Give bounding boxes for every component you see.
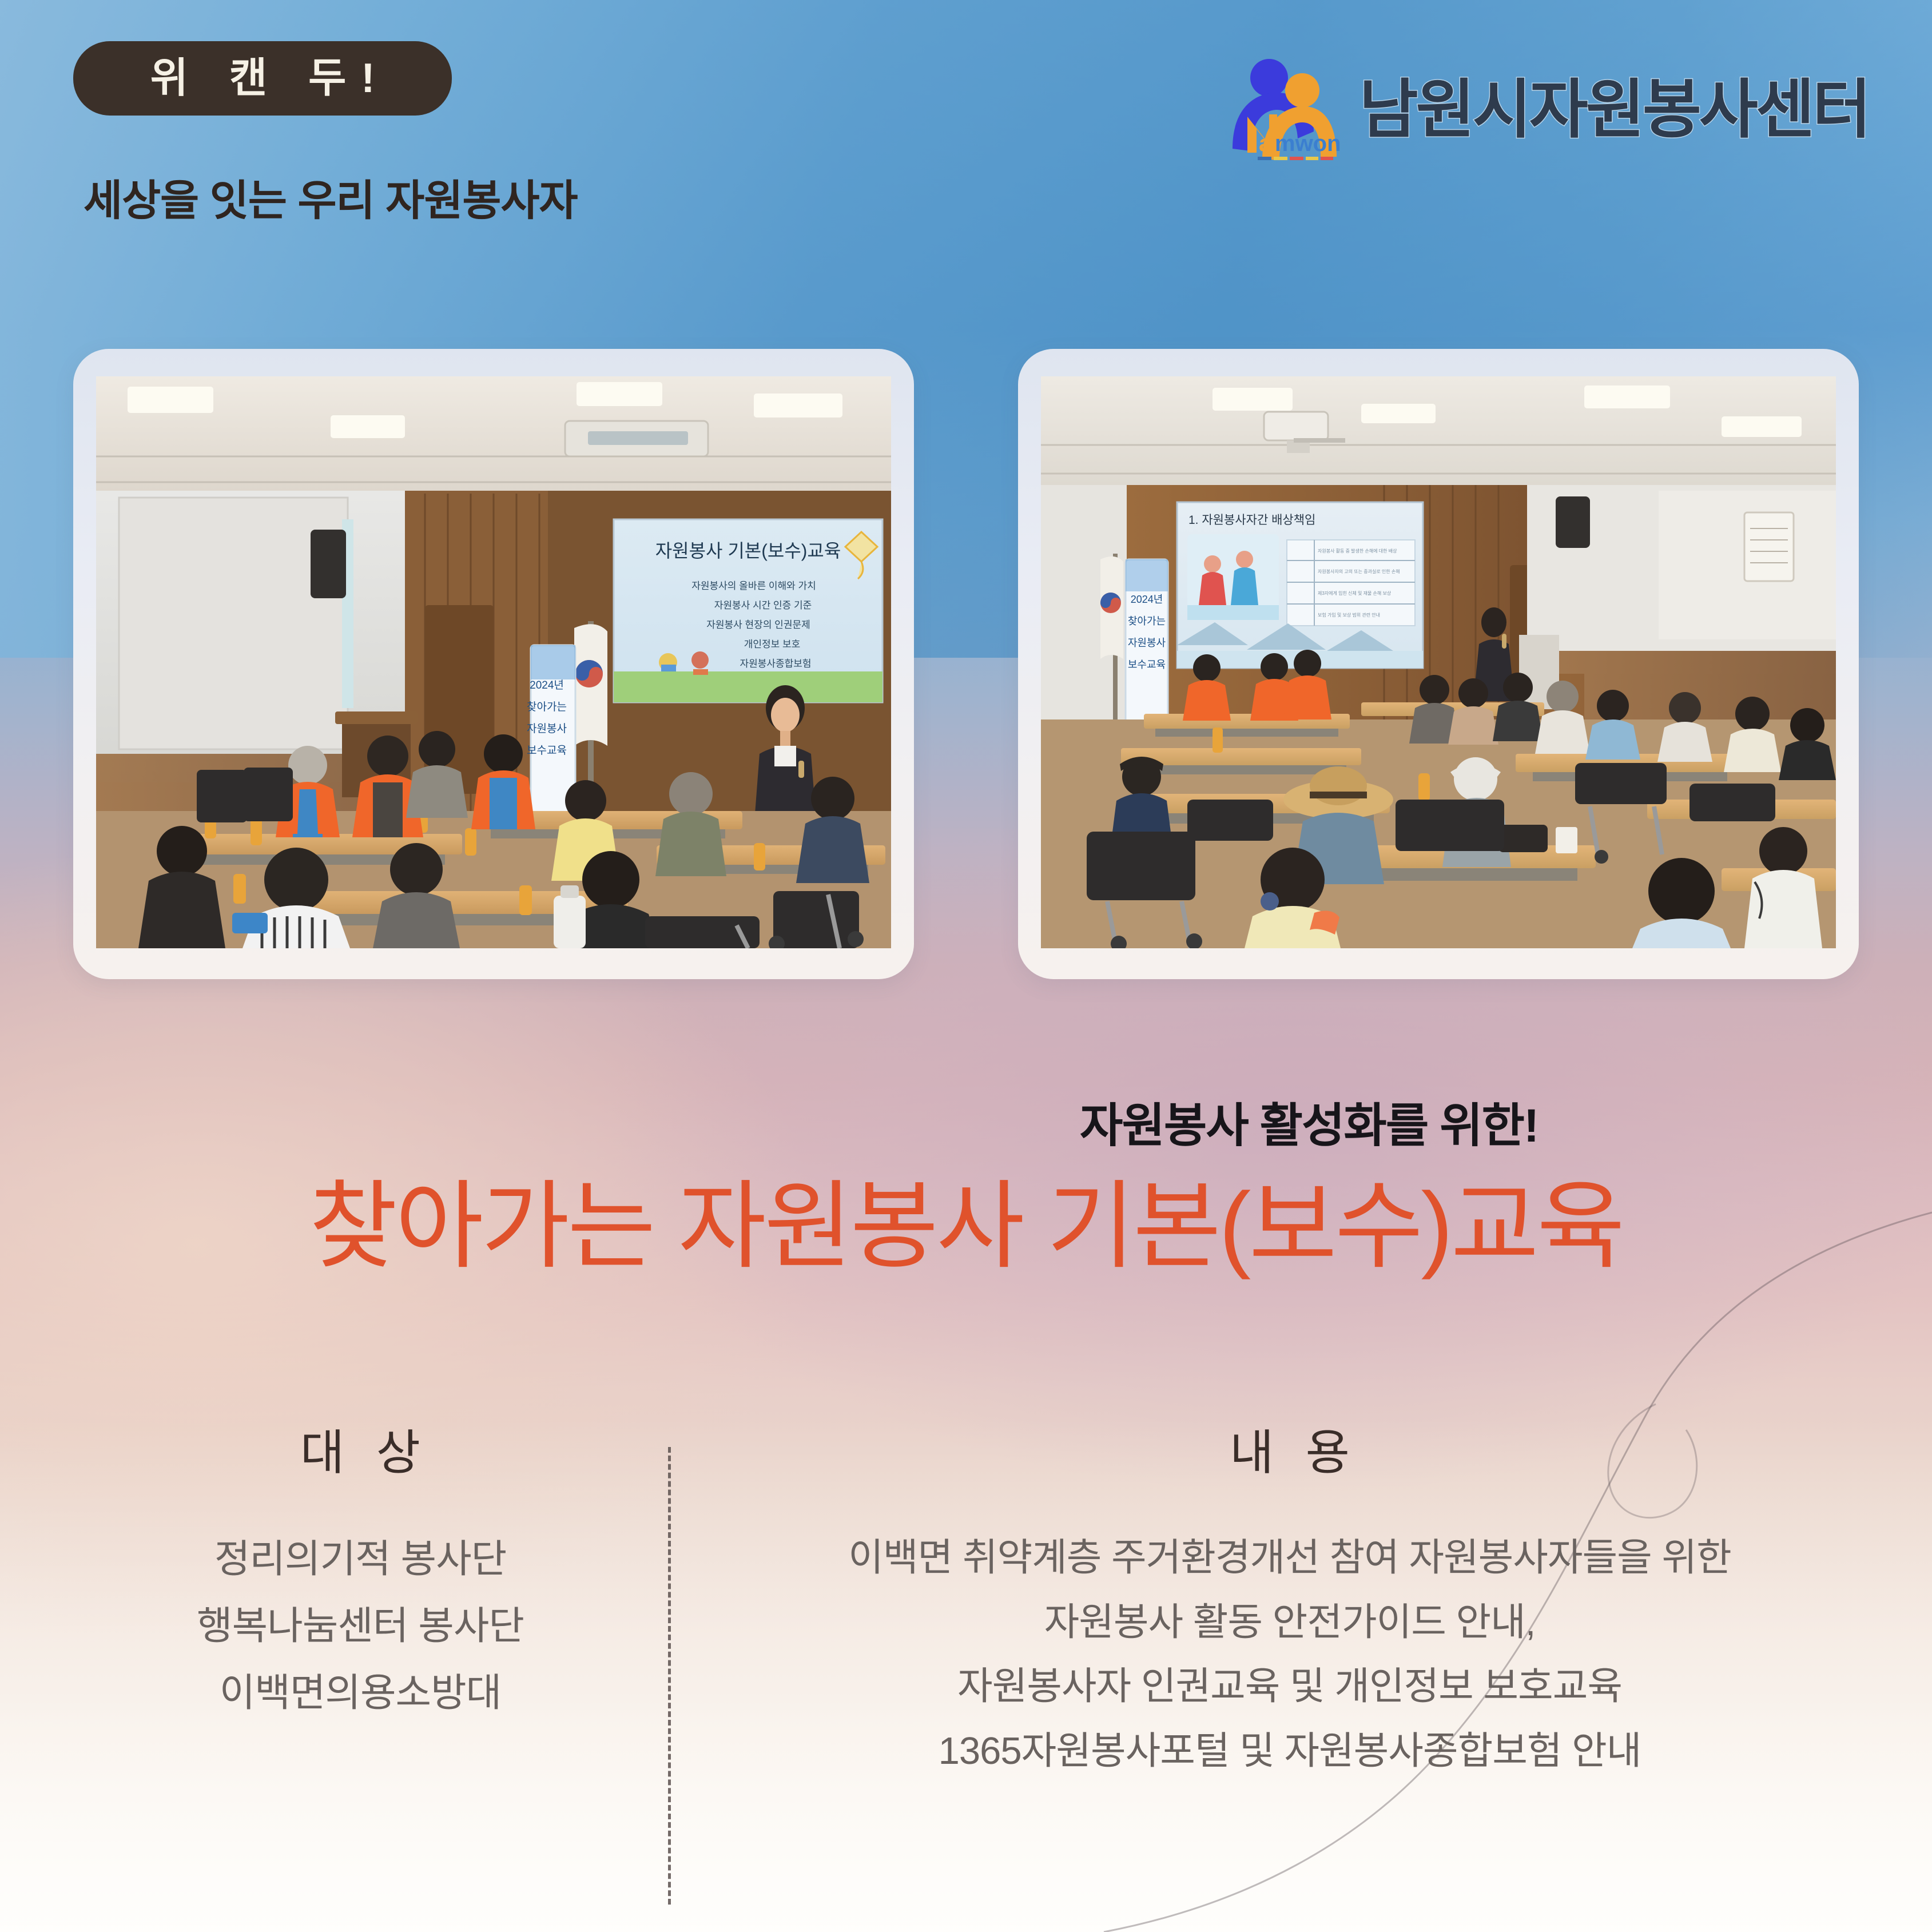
svg-text:자원봉사자의 고의 또는 중과실로 인한 손해: 자원봉사자의 고의 또는 중과실로 인한 손해: [1318, 569, 1400, 574]
svg-text:자원봉사 현장의 인권문제: 자원봉사 현장의 인권문제: [706, 619, 810, 630]
two-people-logo-icon: a mwon: [1222, 53, 1342, 167]
poster-canvas: 위 캔 두! 세상을 잇는 우리 자원봉사자 a mwon 남원시자원봉사센터: [0, 0, 1932, 1932]
svg-text:보수교육: 보수교육: [527, 745, 567, 757]
svg-text:1. 자원봉사자간 배상책임: 1. 자원봉사자간 배상책임: [1188, 514, 1315, 527]
list-item: 자원봉사자 인권교육 및 개인정보 보호교육: [715, 1655, 1865, 1719]
photo-frame-right: 1. 자원봉사자간 배상책임 자원봉사 활동 중 발생한 손해에 대한 배상 자…: [1018, 349, 1859, 979]
photo-frame-left: 자원봉사 기본(보수)교육 자원봉사의 올바른 이해와 가치 자원봉사 시간 인…: [73, 349, 914, 979]
svg-text:제3자에게 입힌 신체 및 재물 손해 보상: 제3자에게 입힌 신체 및 재물 손해 보상: [1318, 590, 1392, 596]
list-item: 이백면의용소방대: [74, 1660, 646, 1727]
center-logo: a mwon 남원시자원봉사센터: [1222, 53, 1869, 167]
list-item: 이백면 취약계층 주거환경개선 참여 자원봉사자들을 위한: [715, 1526, 1865, 1591]
svg-text:찾아가는: 찾아가는: [527, 701, 567, 713]
svg-text:개인정보 보호: 개인정보 보호: [744, 639, 801, 650]
content-lines: 이백면 취약계층 주거환경개선 참여 자원봉사자들을 위한 자원봉사 활동 안전…: [715, 1526, 1865, 1783]
svg-text:보험 가입 및 보상 범위 관련 안내: 보험 가입 및 보상 범위 관련 안내: [1318, 612, 1380, 618]
svg-text:자원봉사 기본(보수)교육: 자원봉사 기본(보수)교육: [655, 540, 841, 561]
svg-text:mwon: mwon: [1275, 131, 1341, 156]
photo-lecture-speaker: 자원봉사 기본(보수)교육 자원봉사의 올바른 이해와 가치 자원봉사 시간 인…: [96, 376, 891, 948]
svg-text:자원봉사: 자원봉사: [1128, 637, 1166, 649]
tagline-text: 세상을 잇는 우리 자원봉사자: [84, 180, 578, 222]
svg-text:2024년: 2024년: [1131, 594, 1163, 605]
svg-text:자원봉사종합보험: 자원봉사종합보험: [740, 658, 811, 669]
svg-text:자원봉사의 올바른 이해와 가치: 자원봉사의 올바른 이해와 가치: [691, 581, 816, 591]
content-heading: 내 용: [715, 1429, 1865, 1477]
target-column: 대 상 정리의기적 봉사단 행복나눔센터 봉사단 이백면의용소방대: [74, 1429, 646, 1727]
svg-text:찾아가는: 찾아가는: [1128, 615, 1166, 627]
target-heading: 대 상: [74, 1429, 646, 1477]
badge-label: 위 캔 두!: [136, 58, 390, 99]
photo-audience-view: 1. 자원봉사자간 배상책임 자원봉사 활동 중 발생한 손해에 대한 배상 자…: [1041, 376, 1836, 948]
page-title: 찾아가는 자원봉사 기본(보수)교육: [0, 1172, 1932, 1280]
column-divider: [668, 1447, 671, 1905]
svg-text:2024년: 2024년: [530, 679, 564, 691]
list-item: 행복나눔센터 봉사단: [74, 1593, 646, 1660]
list-item: 1365자원봉사포털 및 자원봉사종합보험 안내: [715, 1719, 1865, 1784]
content-column: 내 용 이백면 취약계층 주거환경개선 참여 자원봉사자들을 위한 자원봉사 활…: [715, 1429, 1865, 1783]
list-item: 자원봉사 활동 안전가이드 안내,: [715, 1591, 1865, 1655]
logo-name-text: 남원시자원봉사센터: [1359, 78, 1869, 142]
svg-text:보수교육: 보수교육: [1128, 659, 1166, 670]
we-can-do-badge: 위 캔 두!: [73, 41, 452, 116]
svg-text:자원봉사: 자원봉사: [527, 722, 567, 735]
svg-text:a: a: [1259, 131, 1272, 156]
target-lines: 정리의기적 봉사단 행복나눔센터 봉사단 이백면의용소방대: [74, 1526, 646, 1727]
list-item: 정리의기적 봉사단: [74, 1526, 646, 1593]
svg-text:자원봉사 시간 인증 기준: 자원봉사 시간 인증 기준: [714, 600, 812, 611]
svg-text:자원봉사 활동 중 발생한 손해에 대한 배상: 자원봉사 활동 중 발생한 손해에 대한 배상: [1318, 548, 1397, 554]
headline-kicker: 자원봉사 활성화를 위한!: [1080, 1103, 1538, 1150]
